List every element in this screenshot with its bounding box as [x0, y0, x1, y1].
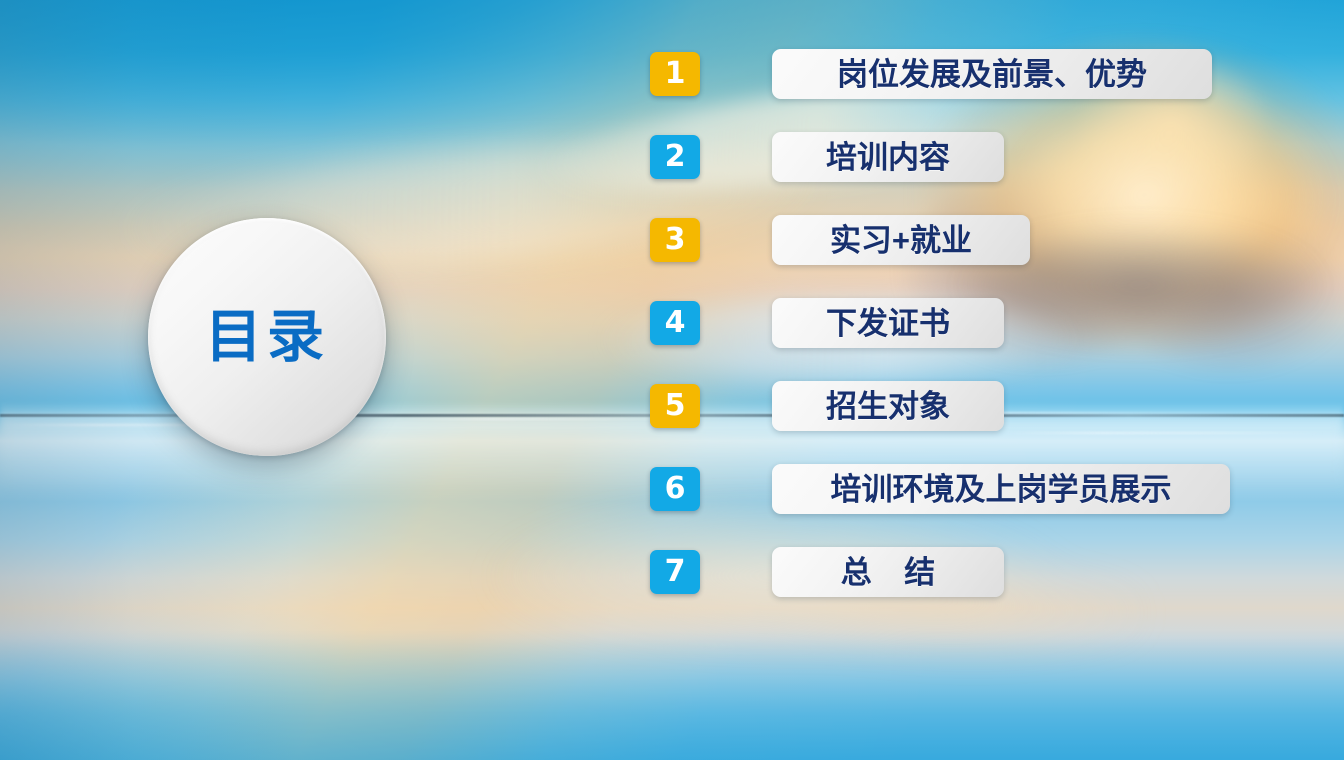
toc-item-2[interactable]: 2 培训内容	[650, 129, 1310, 185]
toc-label-box-1[interactable]: 岗位发展及前景、优势	[772, 49, 1212, 99]
toc-item-6[interactable]: 6 培训环境及上岗学员展示	[650, 461, 1310, 517]
toc-label-box-4[interactable]: 下发证书	[772, 298, 1004, 348]
toc-number-badge-3: 3	[650, 218, 700, 262]
toc-label-text-6: 培训环境及上岗学员展示	[831, 474, 1172, 505]
toc-number-badge-2: 2	[650, 135, 700, 179]
toc-label-box-5[interactable]: 招生对象	[772, 381, 1004, 431]
toc-number-badge-7: 7	[650, 550, 700, 594]
toc-label-text-3: 实习+就业	[830, 225, 972, 256]
toc-label-text-1: 岗位发展及前景、优势	[837, 59, 1147, 90]
toc-list: 1 岗位发展及前景、优势 2 培训内容 3 实习+就业 4 下发证书 5	[650, 46, 1310, 600]
toc-item-5[interactable]: 5 招生对象	[650, 378, 1310, 434]
toc-item-3[interactable]: 3 实习+就业	[650, 212, 1310, 268]
toc-label-box-2[interactable]: 培训内容	[772, 132, 1004, 182]
toc-item-4[interactable]: 4 下发证书	[650, 295, 1310, 351]
toc-label-text-4: 下发证书	[826, 308, 950, 339]
toc-title-label: 目录	[205, 309, 329, 366]
toc-label-box-7[interactable]: 总 结	[772, 547, 1004, 597]
toc-label-text-5: 招生对象	[826, 391, 950, 422]
toc-label-box-3[interactable]: 实习+就业	[772, 215, 1030, 265]
toc-number-badge-4: 4	[650, 301, 700, 345]
toc-label-text-2: 培训内容	[826, 142, 950, 173]
toc-number-badge-6: 6	[650, 467, 700, 511]
toc-item-7[interactable]: 7 总 结	[650, 544, 1310, 600]
toc-number-badge-5: 5	[650, 384, 700, 428]
presentation-slide: 目录 1 岗位发展及前景、优势 2 培训内容 3 实习+就业 4 下发证书	[0, 0, 1344, 760]
toc-label-box-6[interactable]: 培训环境及上岗学员展示	[772, 464, 1230, 514]
toc-label-text-7: 总 结	[829, 557, 948, 588]
toc-title-circle: 目录	[148, 218, 386, 456]
toc-item-1[interactable]: 1 岗位发展及前景、优势	[650, 46, 1310, 102]
toc-number-badge-1: 1	[650, 52, 700, 96]
